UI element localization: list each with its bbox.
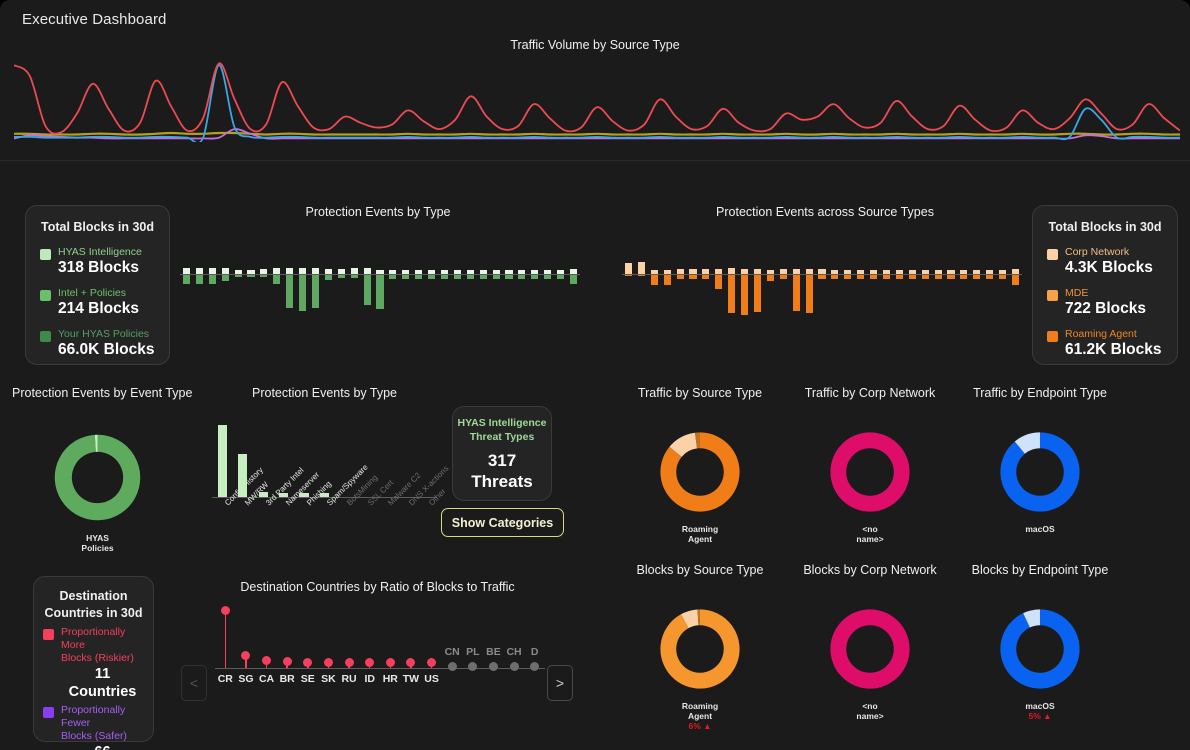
donut-svg (50, 430, 145, 525)
donut-slice[interactable] (1008, 440, 1071, 503)
traffic-volume-title: Traffic Volume by Source Type (0, 38, 1190, 52)
waterfall-bar-positive[interactable] (415, 270, 422, 274)
legend-value: 722 Blocks (1065, 300, 1146, 318)
waterfall-bar-negative[interactable] (480, 275, 487, 279)
donut-slice[interactable] (1027, 617, 1040, 620)
waterfall-bar-positive[interactable] (689, 269, 696, 274)
lollipop-marker[interactable] (489, 662, 498, 671)
dest-countries-chart-title: Destination Countries by Ratio of Blocks… (180, 580, 575, 594)
waterfall-bar-negative[interactable] (467, 275, 474, 279)
legend-item[interactable]: Your HYAS Policies 66.0K Blocks (40, 328, 155, 359)
waterfall-bar-negative[interactable] (780, 275, 787, 279)
bar[interactable] (259, 492, 268, 497)
waterfall-bar-positive[interactable] (402, 270, 409, 274)
events-by-event-type-donut[interactable]: HYAS Policies (50, 430, 145, 553)
waterfall-bar-negative[interactable] (247, 275, 254, 277)
protection-events-across-sources-waterfall[interactable] (622, 240, 1022, 340)
donut-chart[interactable]: RoamingAgent6% ▲ (655, 605, 745, 731)
legend-label-line2: Blocks (Safer) (61, 730, 144, 743)
destination-countries-card: Destination Countries in 30d Proportiona… (33, 576, 154, 742)
total-blocks-left-card: Total Blocks in 30d HYAS Intelligence 31… (25, 205, 170, 365)
total-blocks-right-card: Total Blocks in 30d Corp Network 4.3K Bl… (1032, 205, 1178, 365)
legend-item[interactable]: Roaming Agent 61.2K Blocks (1047, 328, 1163, 359)
waterfall-bar-positive[interactable] (664, 270, 671, 274)
legend-value: 214 Blocks (58, 300, 139, 318)
waterfall-bar-positive[interactable] (325, 269, 332, 274)
waterfall-bar-negative[interactable] (505, 275, 512, 279)
donut-title: Traffic by Source Type (605, 386, 795, 400)
legend-item[interactable]: Proportionally Fewer Blocks (Safer) 66 C… (43, 704, 144, 750)
waterfall-bar-negative[interactable] (312, 275, 319, 308)
waterfall-bar-positive[interactable] (677, 269, 684, 274)
waterfall-bar-positive[interactable] (715, 269, 722, 274)
waterfall-bar-negative[interactable] (531, 275, 538, 279)
lollipop-stem (225, 610, 227, 668)
donut-slice[interactable] (676, 441, 696, 452)
lollipop-marker[interactable] (303, 658, 312, 667)
section-divider (0, 160, 1190, 161)
waterfall-bar-negative[interactable] (260, 275, 267, 277)
waterfall-bar-positive[interactable] (651, 270, 658, 274)
legend-label: MDE (1065, 287, 1146, 300)
waterfall-bar-negative[interactable] (677, 275, 684, 279)
lollipop-marker[interactable] (221, 606, 230, 615)
sparkline-series (14, 133, 1180, 135)
legend-item[interactable]: Corp Network 4.3K Blocks (1047, 246, 1163, 277)
legend-swatch (43, 707, 54, 718)
waterfall-bar-positive[interactable] (351, 268, 358, 274)
waterfall-bar-negative[interactable] (493, 275, 500, 279)
lollipop-marker[interactable] (448, 662, 457, 671)
donut-title: Blocks by Source Type (605, 563, 795, 577)
waterfall-bar-positive[interactable] (947, 270, 954, 274)
donut-svg (656, 605, 744, 693)
waterfall-bar-negative[interactable] (1012, 275, 1019, 285)
legend-swatch (40, 331, 51, 342)
waterfall-bar-negative[interactable] (818, 275, 825, 279)
lollipop-marker[interactable] (262, 656, 271, 665)
lollipop-category-label: D (521, 646, 549, 658)
donut-chart[interactable]: RoamingAgent (655, 428, 745, 544)
donut-slice[interactable] (63, 443, 131, 511)
traffic-volume-panel: Traffic Volume by Source Type (0, 38, 1190, 160)
waterfall-bar-positive[interactable] (935, 270, 942, 274)
donut-slice[interactable] (668, 617, 731, 680)
waterfall-bar-positive[interactable] (831, 270, 838, 274)
waterfall-bar-positive[interactable] (441, 270, 448, 274)
legend-swatch (1047, 249, 1058, 260)
waterfall-bar-negative[interactable] (441, 275, 448, 279)
lollipop-marker[interactable] (283, 657, 292, 666)
legend-item[interactable]: Intel + Policies 214 Blocks (40, 287, 155, 318)
page-title: Executive Dashboard (22, 11, 166, 28)
waterfall-bar-positive[interactable] (896, 270, 903, 274)
lollipop-marker[interactable] (324, 658, 333, 667)
waterfall-bar-positive[interactable] (818, 269, 825, 274)
total-blocks-left-title: Total Blocks in 30d (40, 219, 155, 236)
protection-events-across-sources-title: Protection Events across Source Types (620, 205, 1030, 219)
donut-center-label: macOS (995, 701, 1085, 711)
donut-svg (996, 428, 1084, 516)
legend-item[interactable]: Proportionally More Blocks (Riskier) 11 … (43, 626, 144, 701)
waterfall-bar-positive[interactable] (286, 268, 293, 274)
waterfall-bar-positive[interactable] (806, 269, 813, 274)
waterfall-bar-negative[interactable] (338, 275, 345, 278)
kpi-subtitle-line1: HYAS Intelligence (458, 416, 547, 430)
donut-chart[interactable]: macOS (995, 428, 1085, 534)
donut-center-label: macOS (995, 524, 1085, 534)
waterfall-bar-positive[interactable] (480, 270, 487, 274)
waterfall-bar-positive[interactable] (702, 269, 709, 274)
waterfall-bar-positive[interactable] (999, 270, 1006, 274)
waterfall-bar-positive[interactable] (364, 268, 371, 274)
donut-chart[interactable]: <noname> (825, 428, 915, 544)
events-by-event-type-title: Protection Events by Event Type (12, 386, 182, 400)
lollipop-marker[interactable] (365, 658, 374, 667)
next-page-button[interactable]: > (547, 665, 573, 701)
prev-page-button[interactable]: < (181, 665, 207, 701)
waterfall-bar-positive[interactable] (531, 270, 538, 274)
donut-center-label-2: Policies (50, 543, 145, 553)
waterfall-bar-negative[interactable] (728, 275, 735, 313)
donut-chart[interactable]: macOS5% ▲ (995, 605, 1085, 721)
waterfall-bar-positive[interactable] (544, 270, 551, 274)
waterfall-bar-positive[interactable] (247, 270, 254, 274)
waterfall-bar-positive[interactable] (857, 270, 864, 274)
waterfall-bar-positive[interactable] (570, 269, 577, 274)
waterfall-bar-negative[interactable] (793, 275, 800, 311)
lollipop-marker[interactable] (386, 658, 395, 667)
waterfall-bar-positive[interactable] (767, 270, 774, 274)
waterfall-bar-negative[interactable] (986, 275, 993, 279)
waterfall-bar-negative[interactable] (922, 275, 929, 279)
waterfall-bar-negative[interactable] (222, 275, 229, 281)
waterfall-bar-positive[interactable] (209, 268, 216, 274)
waterfall-bar-positive[interactable] (909, 270, 916, 274)
dest-card-title-line2: Countries in 30d (43, 605, 144, 622)
waterfall-bar-positive[interactable] (870, 270, 877, 274)
waterfall-bar-positive[interactable] (299, 268, 306, 274)
waterfall-bar-positive[interactable] (960, 270, 967, 274)
lollipop-marker[interactable] (406, 658, 415, 667)
legend-value: 66 Countries (61, 743, 144, 750)
waterfall-bar-positive[interactable] (793, 269, 800, 274)
waterfall-bar-negative[interactable] (754, 275, 761, 312)
donut-center-label: <no (825, 524, 915, 534)
waterfall-bar-positive[interactable] (741, 269, 748, 274)
lollipop-marker[interactable] (530, 662, 539, 671)
bar[interactable] (299, 493, 308, 497)
waterfall-bar-negative[interactable] (299, 275, 306, 311)
legend-label: Your HYAS Policies (58, 328, 155, 341)
legend-swatch (40, 290, 51, 301)
waterfall-bar-positive[interactable] (973, 270, 980, 274)
donut-center-label: HYAS (50, 533, 145, 543)
waterfall-bar-negative[interactable] (415, 275, 422, 279)
waterfall-bar-negative[interactable] (544, 275, 551, 279)
waterfall-bar-negative[interactable] (896, 275, 903, 279)
donut-svg (826, 605, 914, 693)
waterfall-bar-positive[interactable] (222, 268, 229, 274)
legend-item[interactable]: HYAS Intelligence 318 Blocks (40, 246, 155, 277)
waterfall-bar-negative[interactable] (196, 275, 203, 284)
legend-swatch (40, 249, 51, 260)
waterfall-bar-positive[interactable] (183, 268, 190, 274)
waterfall-bar-positive[interactable] (273, 268, 280, 274)
waterfall-bar-negative[interactable] (831, 275, 838, 279)
legend-value: 11 Countries (61, 665, 144, 701)
legend-swatch (43, 629, 54, 640)
donut-chart[interactable]: <noname> (825, 605, 915, 721)
waterfall-bar-negative[interactable] (870, 275, 877, 279)
waterfall-bar-positive[interactable] (518, 270, 525, 274)
waterfall-bar-positive[interactable] (844, 270, 851, 274)
waterfall-bar-negative[interactable] (325, 275, 332, 280)
waterfall-bar-negative[interactable] (625, 275, 632, 276)
waterfall-bar-negative[interactable] (935, 275, 942, 279)
waterfall-bar-negative[interactable] (999, 275, 1006, 279)
lollipop-marker[interactable] (241, 651, 250, 660)
kpi-unit: Threats (471, 471, 532, 492)
legend-label-line2: Blocks (Riskier) (61, 652, 144, 665)
title-bar: Executive Dashboard (0, 0, 1190, 40)
legend-label: HYAS Intelligence (58, 246, 142, 259)
donut-title: Traffic by Endpoint Type (945, 386, 1135, 400)
waterfall-bar-positive[interactable] (389, 270, 396, 274)
dest-card-title-line1: Destination (43, 588, 144, 605)
waterfall-bar-negative[interactable] (428, 275, 435, 279)
donut-title: Blocks by Endpoint Type (945, 563, 1135, 577)
legend-label-line1: Proportionally More (61, 626, 144, 652)
donut-delta-indicator: 5% ▲ (995, 711, 1085, 721)
legend-label-line1: Proportionally Fewer (61, 704, 144, 730)
waterfall-bar-positive[interactable] (376, 270, 383, 274)
waterfall-bar-positive[interactable] (986, 270, 993, 274)
waterfall-bar-negative[interactable] (741, 275, 748, 315)
waterfall-bar-positive[interactable] (638, 262, 645, 274)
waterfall-bar-negative[interactable] (235, 275, 242, 277)
waterfall-bar-negative[interactable] (947, 275, 954, 279)
waterfall-bar-positive[interactable] (728, 268, 735, 274)
legend-value: 318 Blocks (58, 259, 142, 277)
waterfall-bar-positive[interactable] (428, 270, 435, 274)
waterfall-bar-negative[interactable] (454, 275, 461, 279)
legend-label: Intel + Policies (58, 287, 139, 300)
show-categories-button[interactable]: Show Categories (441, 508, 564, 537)
waterfall-bar-negative[interactable] (638, 275, 645, 276)
waterfall-bar-positive[interactable] (196, 268, 203, 274)
waterfall-bar-positive[interactable] (235, 270, 242, 274)
waterfall-bar-negative[interactable] (664, 275, 671, 285)
waterfall-bar-negative[interactable] (960, 275, 967, 279)
waterfall-bar-negative[interactable] (286, 275, 293, 308)
donut-slice[interactable] (685, 617, 698, 621)
waterfall-bar-positive[interactable] (625, 263, 632, 274)
waterfall-bar-negative[interactable] (557, 275, 564, 279)
waterfall-bar-negative[interactable] (273, 275, 280, 284)
waterfall-bar-positive[interactable] (883, 270, 890, 274)
waterfall-bar-negative[interactable] (857, 275, 864, 279)
waterfall-bar-positive[interactable] (312, 268, 319, 274)
waterfall-bar-negative[interactable] (689, 275, 696, 279)
lollipop-marker[interactable] (345, 658, 354, 667)
donut-delta-indicator: 6% ▲ (655, 721, 745, 731)
donut-title: Traffic by Corp Network (775, 386, 965, 400)
bar[interactable] (218, 425, 227, 497)
donut-slice[interactable] (1008, 617, 1071, 680)
lollipop-marker[interactable] (427, 658, 436, 667)
waterfall-bar-positive[interactable] (780, 269, 787, 274)
kpi-subtitle-line2: Threat Types (470, 430, 535, 444)
legend-swatch (1047, 331, 1058, 342)
donut-center-label-2: Agent (655, 534, 745, 544)
donut-center-label-2: name> (825, 711, 915, 721)
waterfall-bar-positive[interactable] (493, 270, 500, 274)
legend-value: 4.3K Blocks (1065, 259, 1153, 277)
donut-center-label-2: name> (825, 534, 915, 544)
waterfall-bar-negative[interactable] (767, 275, 774, 281)
legend-swatch (1047, 290, 1058, 301)
lollipop-category-label: US (418, 673, 446, 685)
waterfall-bar-negative[interactable] (651, 275, 658, 285)
protection-events-by-type-wf-title: Protection Events by Type (178, 205, 578, 219)
bar[interactable] (238, 454, 247, 497)
threat-types-kpi-card: HYAS Intelligence Threat Types 317 Threa… (452, 406, 552, 501)
waterfall-bar-negative[interactable] (518, 275, 525, 279)
waterfall-bar-negative[interactable] (183, 275, 190, 284)
donut-svg (996, 605, 1084, 693)
donut-center-label-2: Agent (655, 711, 745, 721)
waterfall-bar-negative[interactable] (909, 275, 916, 279)
donut-slice[interactable] (838, 440, 901, 503)
traffic-volume-sparkline (14, 60, 1180, 142)
waterfall-bar-positive[interactable] (454, 270, 461, 274)
dest-countries-lollipop-chart[interactable]: CRSGCABRSESKRUIDHRTWUSCNPLBECHD (215, 600, 545, 675)
legend-value: 61.2K Blocks (1065, 341, 1162, 359)
waterfall-bar-positive[interactable] (1012, 269, 1019, 274)
donut-slice[interactable] (1020, 440, 1040, 447)
waterfall-bar-positive[interactable] (557, 270, 564, 274)
donut-title: Blocks by Corp Network (775, 563, 965, 577)
waterfall-bar-positive[interactable] (754, 269, 761, 274)
waterfall-bar-negative[interactable] (376, 275, 383, 309)
waterfall-bar-positive[interactable] (467, 270, 474, 274)
waterfall-bar-negative[interactable] (364, 275, 371, 305)
donut-center-label: Roaming (655, 701, 745, 711)
legend-label: Corp Network (1065, 246, 1153, 259)
waterfall-bar-negative[interactable] (844, 275, 851, 279)
donut-center-label: Roaming (655, 524, 745, 534)
waterfall-bar-positive[interactable] (338, 269, 345, 274)
donut-svg (656, 428, 744, 516)
waterfall-bar-negative[interactable] (883, 275, 890, 279)
donut-slice[interactable] (838, 617, 901, 680)
sparkline-series (14, 63, 1180, 133)
waterfall-bar-negative[interactable] (702, 275, 709, 279)
protection-events-by-type-waterfall[interactable] (180, 240, 580, 340)
waterfall-bar-negative[interactable] (209, 275, 216, 284)
waterfall-bar-negative[interactable] (806, 275, 813, 313)
legend-label: Roaming Agent (1065, 328, 1162, 341)
total-blocks-right-title: Total Blocks in 30d (1047, 219, 1163, 236)
dashboard-root: Executive Dashboard Traffic Volume by So… (0, 0, 1190, 750)
waterfall-bar-negative[interactable] (351, 275, 358, 278)
waterfall-bar-positive[interactable] (505, 270, 512, 274)
legend-value: 66.0K Blocks (58, 341, 155, 359)
lollipop-marker[interactable] (468, 662, 477, 671)
protection-events-by-type-bars-title: Protection Events by Type (252, 386, 392, 400)
waterfall-bar-positive[interactable] (260, 269, 267, 274)
kpi-number: 317 (488, 450, 516, 471)
donut-svg (826, 428, 914, 516)
waterfall-bar-negative[interactable] (570, 275, 577, 284)
waterfall-bar-negative[interactable] (973, 275, 980, 279)
lollipop-marker[interactable] (510, 662, 519, 671)
donut-center-label: <no (825, 701, 915, 711)
waterfall-bar-positive[interactable] (922, 270, 929, 274)
legend-item[interactable]: MDE 722 Blocks (1047, 287, 1163, 318)
waterfall-bar-negative[interactable] (715, 275, 722, 289)
waterfall-bar-negative[interactable] (389, 275, 396, 279)
waterfall-bar-negative[interactable] (402, 275, 409, 279)
protection-events-by-type-bar-chart[interactable]: Config/HistoryMW/RW3rd Party IntelNamese… (212, 418, 437, 498)
